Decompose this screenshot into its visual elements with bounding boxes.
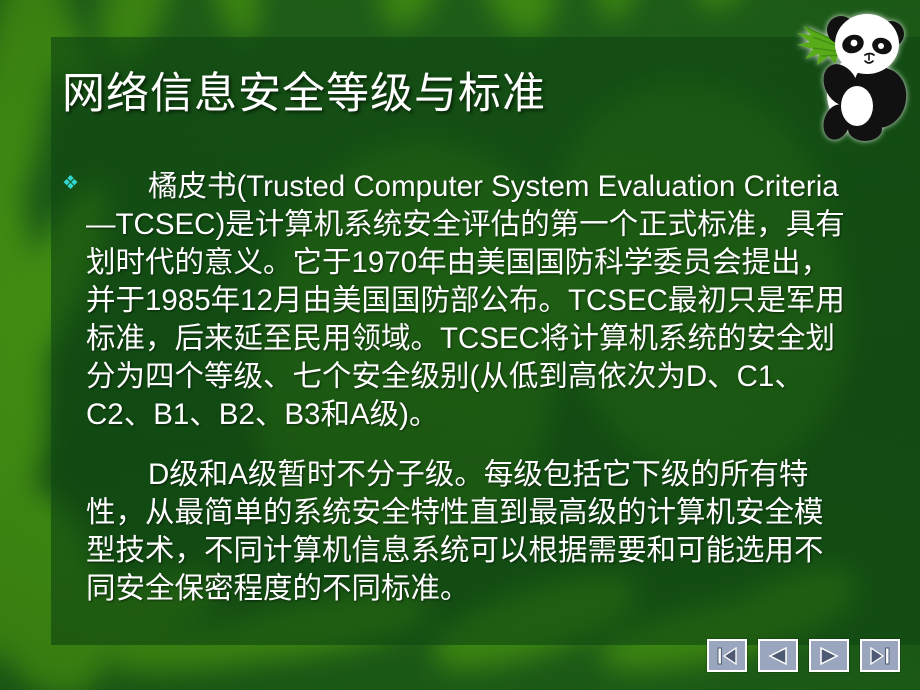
play-back-icon [767, 647, 789, 665]
skip-forward-icon [869, 647, 891, 665]
previous-slide-button[interactable] [758, 639, 798, 672]
panda-illustration [777, 2, 920, 150]
last-slide-button[interactable] [860, 639, 900, 672]
page-title: 网络信息安全等级与标准 [62, 72, 762, 117]
play-forward-icon [818, 647, 840, 665]
paragraph-bulleted: ❖ 橘皮书(Trusted Computer System Evaluation… [62, 168, 852, 434]
first-slide-button[interactable] [707, 639, 747, 672]
skip-back-icon [716, 647, 738, 665]
bullet-diamond-icon: ❖ [62, 174, 79, 193]
slide-navigation-bar[interactable] [707, 639, 900, 672]
body-text-block: ❖ 橘皮书(Trusted Computer System Evaluation… [62, 168, 852, 608]
paragraph-text-2: D级和A级暂时不分子级。每级包括它下级的所有特性，从最简单的系统安全特性直到最高… [86, 458, 824, 605]
next-slide-button[interactable] [809, 639, 849, 672]
slide-canvas: 网络信息安全等级与标准 ❖ 橘皮书(Trusted Computer Syste… [0, 0, 920, 690]
paragraph-plain: D级和A级暂时不分子级。每级包括它下级的所有特性，从最简单的系统安全特性直到最高… [62, 456, 852, 608]
paragraph-text-1: 橘皮书(Trusted Computer System Evaluation C… [86, 170, 845, 431]
